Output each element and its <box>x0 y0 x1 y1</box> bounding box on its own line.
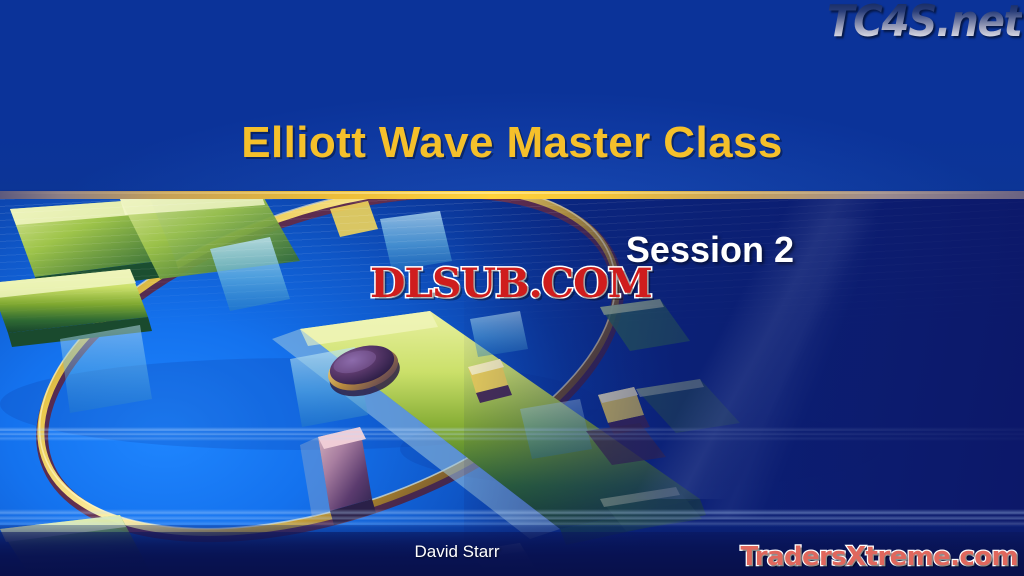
gold-divider-highlight <box>0 192 1024 194</box>
watermark-tradersxtreme: TradersXtreme.com <box>741 542 1019 572</box>
watermark-tc4s: TC4S.net <box>827 0 1022 47</box>
presentation-slide: Elliott Wave Master Class <box>0 0 1024 576</box>
watermark-dlsub: DLSUB.COM <box>370 260 652 307</box>
page-title: Elliott Wave Master Class <box>0 118 1024 168</box>
